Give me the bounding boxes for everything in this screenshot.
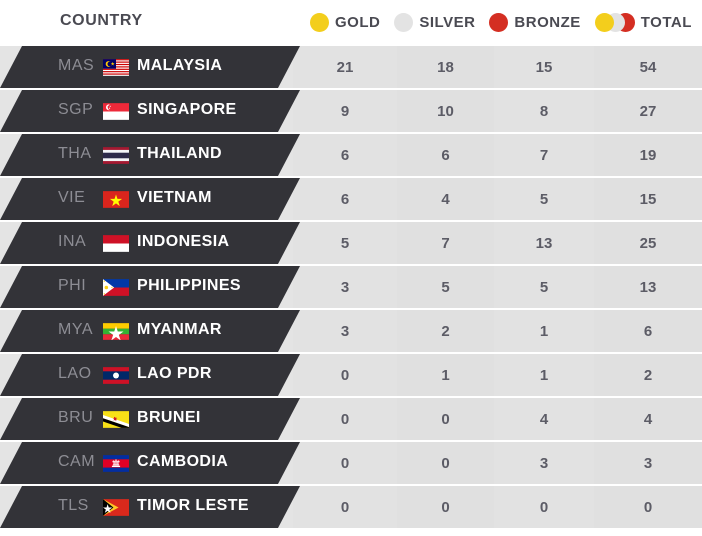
- table-row[interactable]: VIEVIETNAM64515: [0, 178, 702, 220]
- table-row[interactable]: SGPSINGAPORE910827: [0, 90, 702, 132]
- silver-count: 0: [397, 410, 494, 430]
- legend-item-silver: SILVER: [394, 13, 475, 32]
- total-count: 2: [594, 366, 702, 386]
- country-code: SGP: [58, 101, 102, 119]
- bronze-count: 5: [494, 278, 594, 298]
- total-count: 3: [594, 454, 702, 474]
- country-code: TLS: [58, 497, 102, 515]
- gold-count: 0: [293, 498, 397, 518]
- flag-brunei-icon: [103, 411, 129, 428]
- gold-count: 9: [293, 102, 397, 122]
- silver-count: 10: [397, 102, 494, 122]
- gold-medal-icon: [310, 13, 329, 32]
- country-name: INDONESIA: [137, 233, 230, 251]
- bronze-count: 5: [494, 190, 594, 210]
- table-row[interactable]: THATHAILAND66719: [0, 134, 702, 176]
- bronze-count: 0: [494, 498, 594, 518]
- flag-cambodia-icon: [103, 455, 129, 472]
- silver-count: 4: [397, 190, 494, 210]
- bronze-medal-icon: [489, 13, 508, 32]
- bronze-count: 8: [494, 102, 594, 122]
- silver-count: 1: [397, 366, 494, 386]
- table-row[interactable]: BRUBRUNEI0044: [0, 398, 702, 440]
- flag-timorleste-icon: [103, 499, 129, 516]
- silver-count: 7: [397, 234, 494, 254]
- legend-label-bronze: BRONZE: [514, 14, 580, 31]
- country-code: MYA: [58, 321, 102, 339]
- total-count: 13: [594, 278, 702, 298]
- table-row[interactable]: MYAMYANMAR3216: [0, 310, 702, 352]
- country-name: SINGAPORE: [137, 101, 237, 119]
- legend-item-gold: GOLD: [310, 13, 380, 32]
- gold-count: 0: [293, 410, 397, 430]
- gold-count: 0: [293, 366, 397, 386]
- country-name: PHILIPPINES: [137, 277, 241, 295]
- flag-philippines-icon: [103, 279, 129, 296]
- legend-label-silver: SILVER: [419, 14, 475, 31]
- flag-vietnam-icon: [103, 191, 129, 208]
- table-row[interactable]: PHIPHILIPPINES35513: [0, 266, 702, 308]
- gold-count: 0: [293, 454, 397, 474]
- country-code: MAS: [58, 57, 102, 75]
- table-row[interactable]: TLSTIMOR LESTE0000: [0, 486, 702, 528]
- country-code: BRU: [58, 409, 102, 427]
- bronze-count: 4: [494, 410, 594, 430]
- total-count: 27: [594, 102, 702, 122]
- silver-count: 5: [397, 278, 494, 298]
- country-code: INA: [58, 233, 102, 251]
- flag-indonesia-icon: [103, 235, 129, 252]
- silver-count: 6: [397, 146, 494, 166]
- country-code: VIE: [58, 189, 102, 207]
- total-medals-icon: [595, 13, 635, 32]
- country-code: PHI: [58, 277, 102, 295]
- country-name: MALAYSIA: [137, 57, 222, 75]
- bronze-count: 1: [494, 322, 594, 342]
- total-count: 25: [594, 234, 702, 254]
- silver-count: 18: [397, 58, 494, 78]
- bronze-count: 7: [494, 146, 594, 166]
- table-row[interactable]: MASMALAYSIA21181554: [0, 46, 702, 88]
- gold-count: 21: [293, 58, 397, 78]
- medal-table: COUNTRY GOLD SILVER BRONZE TOTAL: [0, 0, 702, 536]
- gold-count: 6: [293, 190, 397, 210]
- total-count: 4: [594, 410, 702, 430]
- total-count: 0: [594, 498, 702, 518]
- gold-count: 3: [293, 278, 397, 298]
- table-row[interactable]: CAMCAMBODIA0033: [0, 442, 702, 484]
- legend-label-total: TOTAL: [641, 14, 692, 31]
- country-name: TIMOR LESTE: [137, 497, 249, 515]
- bronze-count: 1: [494, 366, 594, 386]
- silver-count: 0: [397, 498, 494, 518]
- table-row[interactable]: LAOLAO PDR0112: [0, 354, 702, 396]
- flag-myanmar-icon: [103, 323, 129, 340]
- country-name: THAILAND: [137, 145, 222, 163]
- gold-count: 5: [293, 234, 397, 254]
- medal-legend: GOLD SILVER BRONZE TOTAL: [310, 10, 692, 34]
- table-header: COUNTRY GOLD SILVER BRONZE TOTAL: [0, 0, 702, 44]
- country-code: LAO: [58, 365, 102, 383]
- legend-item-total: TOTAL: [595, 13, 692, 32]
- gold-count: 3: [293, 322, 397, 342]
- total-count: 54: [594, 58, 702, 78]
- bronze-count: 13: [494, 234, 594, 254]
- total-count: 19: [594, 146, 702, 166]
- legend-label-gold: GOLD: [335, 14, 380, 31]
- silver-medal-icon: [394, 13, 413, 32]
- total-count: 15: [594, 190, 702, 210]
- flag-laos-icon: [103, 367, 129, 384]
- total-gold-disc: [595, 13, 614, 32]
- legend-item-bronze: BRONZE: [489, 13, 580, 32]
- table-row[interactable]: INAINDONESIA571325: [0, 222, 702, 264]
- bronze-count: 3: [494, 454, 594, 474]
- country-name: MYANMAR: [137, 321, 222, 339]
- flag-singapore-icon: [103, 103, 129, 120]
- country-name: LAO PDR: [137, 365, 212, 383]
- country-name: VIETNAM: [137, 189, 212, 207]
- country-code: CAM: [58, 453, 102, 471]
- country-name: BRUNEI: [137, 409, 201, 427]
- country-name: CAMBODIA: [137, 453, 228, 471]
- country-code: THA: [58, 145, 102, 163]
- silver-count: 2: [397, 322, 494, 342]
- bronze-count: 15: [494, 58, 594, 78]
- flag-malaysia-icon: [103, 59, 129, 76]
- total-count: 6: [594, 322, 702, 342]
- flag-thailand-icon: [103, 147, 129, 164]
- silver-count: 0: [397, 454, 494, 474]
- column-header-country: COUNTRY: [60, 12, 143, 30]
- gold-count: 6: [293, 146, 397, 166]
